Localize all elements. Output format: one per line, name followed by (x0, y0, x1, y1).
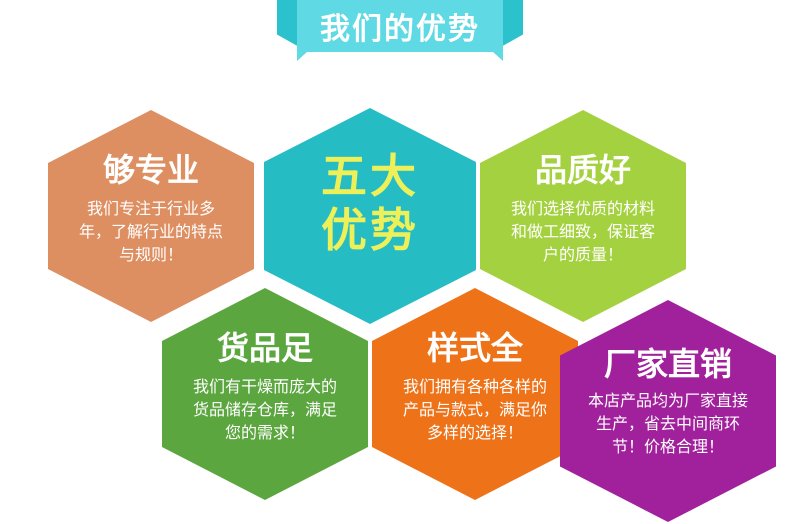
hexagon-quality-title: 品质好 (535, 154, 631, 188)
hexagon-quality: 品质好 我们选择优质的材料和做工细致，保证客户的质量！ (480, 110, 686, 322)
hexagon-stock-title: 货品足 (217, 332, 313, 366)
hexagon-stock-body: 我们有干燥而庞大的货品储存仓库，满足您的需求！ (188, 376, 343, 446)
hexagon-variety-body: 我们拥有各种各样的产品与款式，满足你多样的选择！ (398, 376, 553, 446)
hexagon-factory-direct-title: 厂家直销 (604, 348, 732, 382)
hexagon-center-title-line1: 五大 (321, 150, 419, 202)
infographic-page: 我们的优势 够专业 我们专注于行业多年，了解行业的特点与规则！ 五大 优势 品质… (0, 0, 800, 524)
ribbon-notch-right-icon (493, 52, 503, 61)
hexagon-professional-title: 够专业 (103, 154, 199, 188)
hexagon-center-title: 五大 优势 (321, 152, 419, 255)
hexagon-factory-direct-body: 本店产品均为厂家直接生产，省去中间商环节！价格合理！ (588, 390, 748, 460)
hexagon-variety: 样式全 我们拥有各种各样的产品与款式，满足你多样的选择！ (372, 288, 578, 500)
hexagon-stock: 货品足 我们有干燥而庞大的货品储存仓库，满足您的需求！ (162, 288, 368, 500)
hexagon-center-title-line2: 优势 (321, 206, 419, 254)
hexagon-center-highlight: 五大 优势 (264, 108, 476, 324)
hexagon-variety-title: 样式全 (427, 332, 523, 366)
hexagon-professional: 够专业 我们专注于行业多年，了解行业的特点与规则！ (48, 110, 254, 322)
page-title: 我们的优势 (297, 0, 503, 52)
hexagon-professional-body: 我们专注于行业多年，了解行业的特点与规则！ (76, 198, 226, 268)
hexagon-quality-body: 我们选择优质的材料和做工细致，保证客户的质量！ (506, 198, 661, 268)
ribbon-notch-left-icon (297, 52, 307, 61)
hexagon-factory-direct: 厂家直销 本店产品均为厂家直接生产，省去中间商环节！价格合理！ (560, 300, 776, 522)
header-ribbon: 我们的优势 (277, 0, 523, 60)
